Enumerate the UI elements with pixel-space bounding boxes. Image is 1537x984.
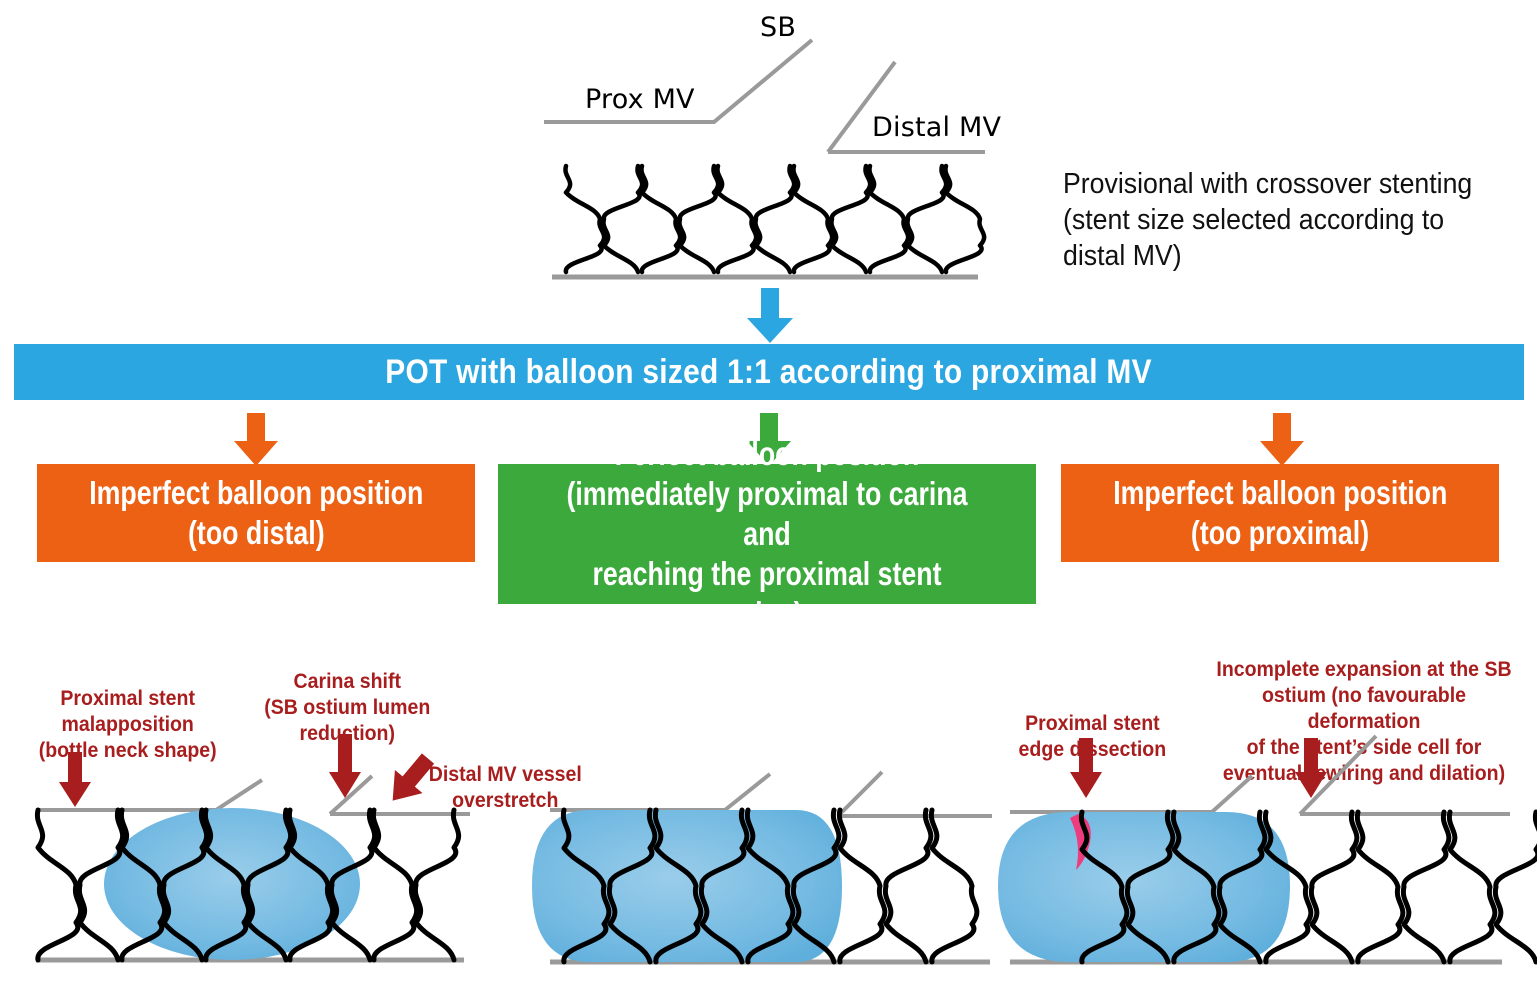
annotation-proximal-stent-malapposition: Proximal stent malapposition (bottle nec… <box>28 660 228 764</box>
description-line-3: distal MV) <box>1063 238 1472 274</box>
stent-strut <box>565 166 604 272</box>
panel1-sb-wall <box>330 776 372 814</box>
panel-perfect <box>520 780 1000 984</box>
stent-strut <box>603 166 642 272</box>
description-block: Provisional with crossover stenting (ste… <box>1063 166 1508 274</box>
panel2-prox-wall <box>550 774 770 810</box>
arrow-to-too-proximal <box>1258 413 1306 467</box>
stent-strut <box>1357 812 1403 962</box>
outcome-box-too-distal: Imperfect balloon position (too distal) <box>37 464 475 562</box>
label-distal-mv: Distal MV <box>872 112 1001 143</box>
stent-strut <box>373 810 416 960</box>
stent-strut <box>679 166 718 272</box>
stent-strut <box>1495 812 1537 962</box>
label-prox-mv: Prox MV <box>585 84 695 115</box>
label-sb: SB <box>760 12 796 43</box>
outcome-too-distal-line-2: (too distal) <box>188 513 325 553</box>
stent-strut <box>717 166 756 272</box>
stent-strut <box>831 166 870 272</box>
panel1-prox-wall <box>36 780 262 810</box>
outcome-too-proximal-line-2: (too proximal) <box>1191 513 1369 553</box>
stent-strut <box>839 810 885 962</box>
pot-banner: POT with balloon sized 1:1 according to … <box>14 344 1524 400</box>
stent-strut <box>793 166 832 272</box>
description-line-2: (stent size selected according to <box>1063 202 1472 238</box>
stent-strut <box>931 810 977 962</box>
stent-strut <box>1449 812 1495 962</box>
stent-strut <box>755 166 794 272</box>
stent-strut <box>1311 812 1357 962</box>
panel2-sb-wall <box>838 772 882 816</box>
stent-strut <box>907 166 946 272</box>
arrow-to-too-distal <box>232 413 280 467</box>
annotation-carina-shift: Carina shift (SB ostium lumen reduction) <box>252 643 442 747</box>
stent-strut <box>1403 812 1449 962</box>
stent-strut <box>37 810 80 960</box>
description-line-1: Provisional with crossover stenting <box>1063 166 1472 202</box>
stent-strut <box>415 810 458 960</box>
panel-too-proximal <box>990 780 1530 984</box>
stent-strut <box>641 166 680 272</box>
outcome-box-too-proximal: Imperfect balloon position (too proximal… <box>1061 464 1499 562</box>
outcome-perfect-line-1: Perfect balloon position <box>615 434 919 474</box>
outcome-too-proximal-line-1: Imperfect balloon position <box>1113 473 1447 513</box>
figure-root: SB Prox MV Distal MV Provisional with cr… <box>0 0 1537 984</box>
stent-mesh-top <box>548 160 978 280</box>
outcome-too-distal-line-1: Imperfect balloon position <box>89 473 423 513</box>
pot-banner-text: POT with balloon sized 1:1 according to … <box>386 353 1153 392</box>
stent-strut <box>869 166 908 272</box>
stent-strut <box>885 810 931 962</box>
outcome-perfect-line-2: (immediately proximal to carina and <box>557 474 977 554</box>
blue-down-arrow <box>745 288 795 344</box>
panel-too-distal <box>0 780 500 984</box>
outcome-perfect-line-3: reaching the proximal stent edge) <box>557 554 977 634</box>
panel3-prox-wall <box>1010 776 1252 812</box>
outcome-box-perfect: Perfect balloon position (immediately pr… <box>498 464 1036 604</box>
annotation-incomplete-expansion: Incomplete expansion at the SB ostium (n… <box>1196 631 1532 787</box>
